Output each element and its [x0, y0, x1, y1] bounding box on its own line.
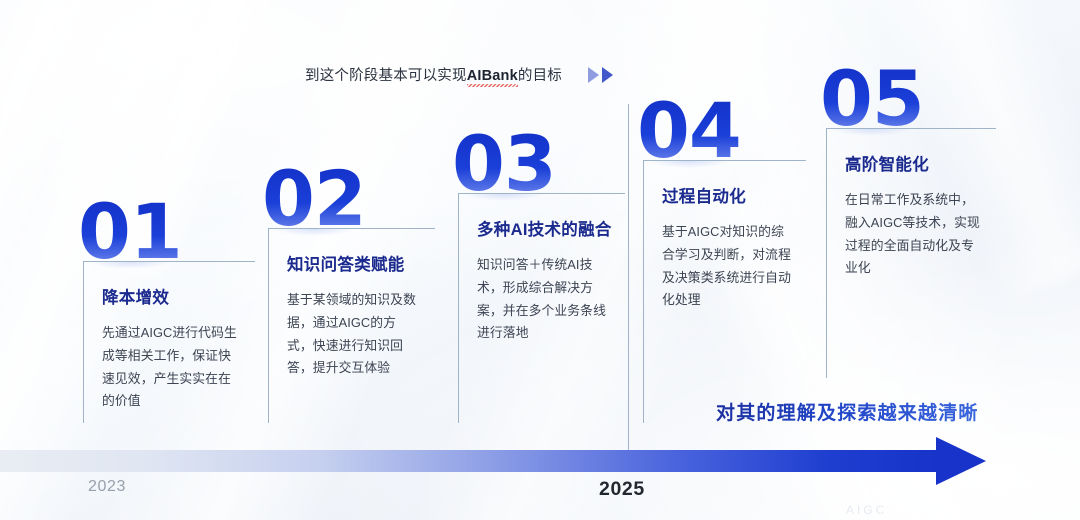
step-title-03: 多种AI技术的融合: [477, 216, 611, 240]
year-marker-line: [628, 104, 629, 452]
annotation-text-after: 的目标: [518, 68, 562, 84]
step-body-01: 先通过AIGC进行代码生成等相关工作，保证快速见效，产生实实在在的价值: [102, 322, 241, 413]
timeline-year-start: 2023: [88, 478, 126, 496]
step-body-05: 在日常工作及系统中，融入AIGC等技术，实现过程的全面自动化及专业化: [845, 189, 982, 280]
chevron-right-icon: [588, 67, 599, 83]
step-title-04: 过程自动化: [662, 183, 792, 207]
step-body-02: 基于某领域的知识及数据，通过AIGC的方式，快速进行知识回答，提升交互体验: [287, 289, 421, 380]
step-number-01: 01: [78, 194, 182, 270]
watermark-text: AIGC: [846, 503, 887, 517]
step-body-03: 知识问答＋传统AI技术，形成综合解决方案，并在多个业务条线进行落地: [477, 254, 611, 345]
top-annotation: 到这个阶段基本可以实现AIBank的目标: [305, 64, 562, 85]
annotation-text-before: 到这个阶段基本可以实现: [305, 68, 467, 84]
step-number-02: 02: [262, 161, 366, 237]
step-body-04: 基于AIGC对知识的综合学习及判断，对流程及决策类系统进行自动化处理: [662, 221, 792, 312]
step-card-04[interactable]: 过程自动化 基于AIGC对知识的综合学习及判断，对流程及决策类系统进行自动化处理: [643, 160, 806, 423]
step-number-03: 03: [452, 126, 556, 202]
step-number-05: 05: [820, 61, 924, 137]
step-title-02: 知识问答类赋能: [287, 251, 421, 275]
step-card-03[interactable]: 多种AI技术的融合 知识问答＋传统AI技术，形成综合解决方案，并在多个业务条线进…: [458, 193, 625, 423]
step-title-01: 降本增效: [102, 284, 241, 308]
step-number-04: 04: [637, 93, 741, 169]
timeline-year-marker: 2025: [599, 478, 645, 501]
annotation-highlight-aibank: AIBank: [467, 68, 518, 84]
timeline-bar: [0, 450, 938, 472]
step-card-05[interactable]: 高阶智能化 在日常工作及系统中，融入AIGC等技术，实现过程的全面自动化及专业化: [826, 128, 996, 378]
right-arrow-icon: [936, 437, 986, 485]
tagline-text: 对其的理解及探索越来越清晰: [716, 398, 979, 425]
step-title-05: 高阶智能化: [845, 151, 982, 175]
step-card-01[interactable]: 降本增效 先通过AIGC进行代码生成等相关工作，保证快速见效，产生实实在在的价值: [83, 261, 255, 423]
infographic-canvas: 到这个阶段基本可以实现AIBank的目标 01 降本增效 先通过AIGC进行代码…: [0, 0, 1080, 520]
chevron-right-icon: [602, 67, 613, 83]
double-chevron-right-icon: [588, 67, 613, 83]
step-card-02[interactable]: 知识问答类赋能 基于某领域的知识及数据，通过AIGC的方式，快速进行知识回答，提…: [268, 228, 435, 423]
